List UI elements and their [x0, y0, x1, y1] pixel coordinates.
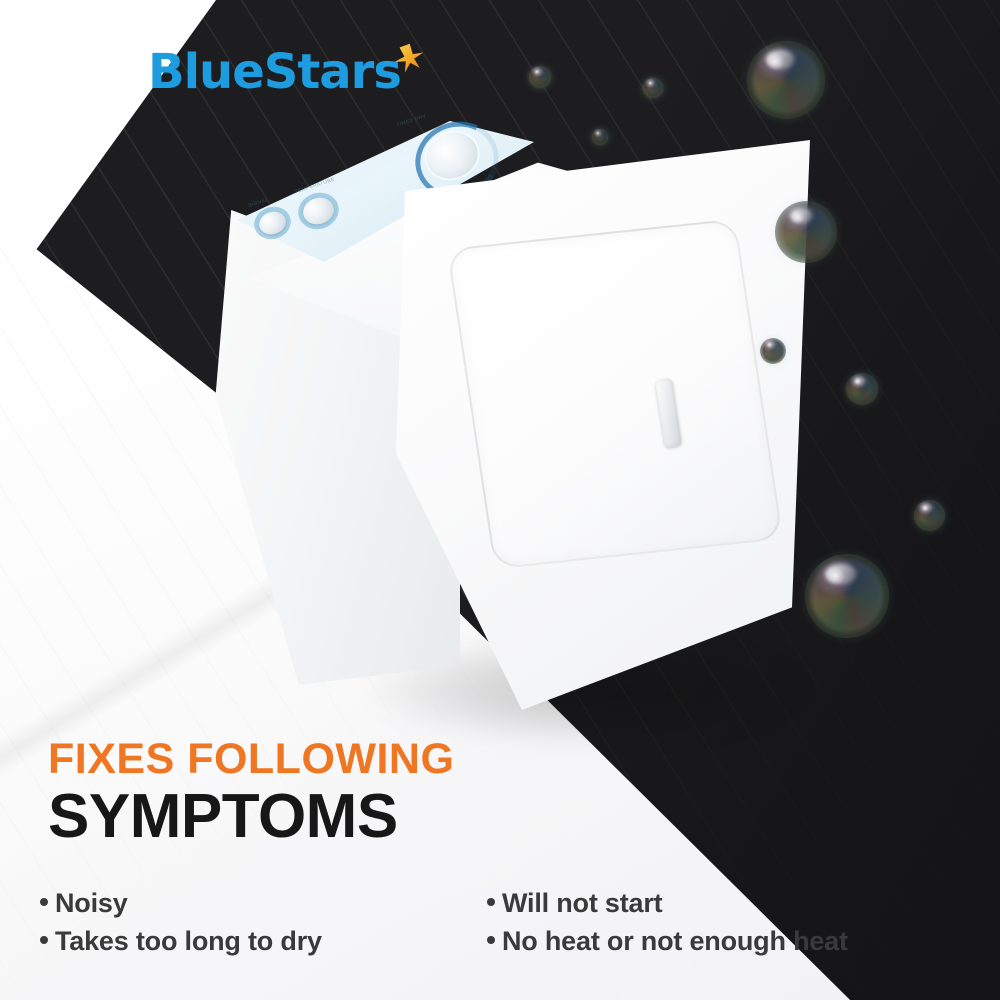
symptom-list: Noisy Takes too long to dry Will not sta… [40, 884, 930, 961]
soap-bubble [760, 338, 786, 364]
list-item: No heat or not enough heat [487, 922, 902, 960]
promotional-banner: Blue Stars SIGNAL TE [0, 0, 1000, 1000]
soap-bubble [643, 78, 663, 98]
bullet-dot-icon [40, 898, 48, 906]
dryer-door [447, 219, 784, 570]
bluestars-logo: Blue Stars [148, 48, 425, 96]
soap-bubble [914, 500, 945, 531]
headline-block: FIXES FOLLOWING SYMPTOMS [48, 738, 454, 848]
soap-bubble [846, 373, 878, 405]
symptom-label: No heat or not enough heat [502, 922, 848, 960]
star-sparkle-icon [391, 42, 425, 76]
symptom-label: Will not start [502, 884, 662, 922]
symptom-column-right: Will not start No heat or not enough hea… [487, 884, 902, 961]
soap-bubble [747, 41, 825, 119]
logo-text-stars: Stars [264, 48, 401, 96]
list-item: Will not start [487, 884, 902, 922]
symptom-label: Takes too long to dry [55, 922, 322, 960]
clothes-dryer-product-image: SIGNAL TEMPERATURE TIMED DRY [200, 110, 820, 730]
symptom-label: Noisy [55, 884, 128, 922]
soap-bubble [805, 554, 889, 638]
headline-line-1: FIXES FOLLOWING [48, 738, 454, 782]
bullet-dot-icon [487, 936, 495, 944]
timer-dial-label: TIMED DRY [396, 113, 427, 128]
logo-text-blue: Blue [148, 48, 264, 96]
soap-bubble [592, 129, 608, 145]
bullet-dot-icon [40, 936, 48, 944]
headline-line-2: SYMPTOMS [48, 786, 454, 848]
bullet-dot-icon [487, 898, 495, 906]
list-item: Noisy [40, 884, 455, 922]
soap-bubble [775, 201, 837, 263]
soap-bubble [529, 66, 551, 88]
symptom-column-left: Noisy Takes too long to dry [40, 884, 455, 961]
list-item: Takes too long to dry [40, 922, 455, 960]
